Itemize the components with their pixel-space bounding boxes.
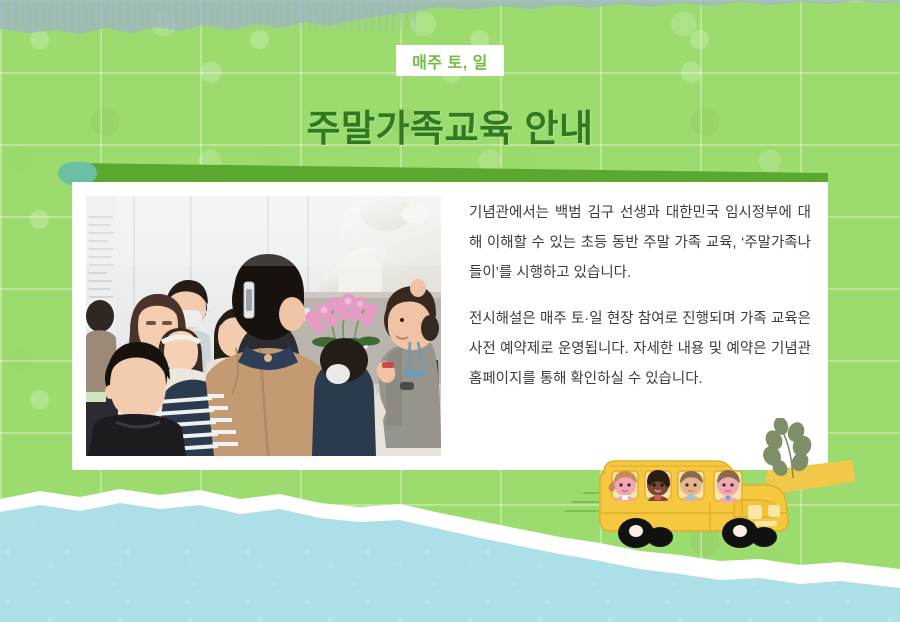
- description-paragraph-1: 기념관에서는 백범 김구 선생과 대한민국 임시정부에 대해 이해할 수 있는 …: [469, 198, 811, 288]
- torn-paper-top-fuzz: [0, 0, 420, 36]
- program-photo: [86, 196, 441, 456]
- page-title: 주말가족교육 안내: [0, 98, 900, 152]
- content-card: 기념관에서는 백범 김구 선생과 대한민국 임시정부에 대해 이해할 수 있는 …: [72, 182, 828, 470]
- schedule-badge-label: 매주 토, 일: [412, 49, 488, 73]
- description-paragraph-2: 전시해설은 매주 토·일 현장 참여로 진행되며 가족 교육은 사전 예약제로 …: [469, 304, 811, 394]
- schedule-badge: 매주 토, 일: [396, 45, 504, 76]
- school-bus-illustration: [598, 455, 793, 550]
- poster-canvas: 매주 토, 일 주말가족교육 안내: [0, 0, 900, 622]
